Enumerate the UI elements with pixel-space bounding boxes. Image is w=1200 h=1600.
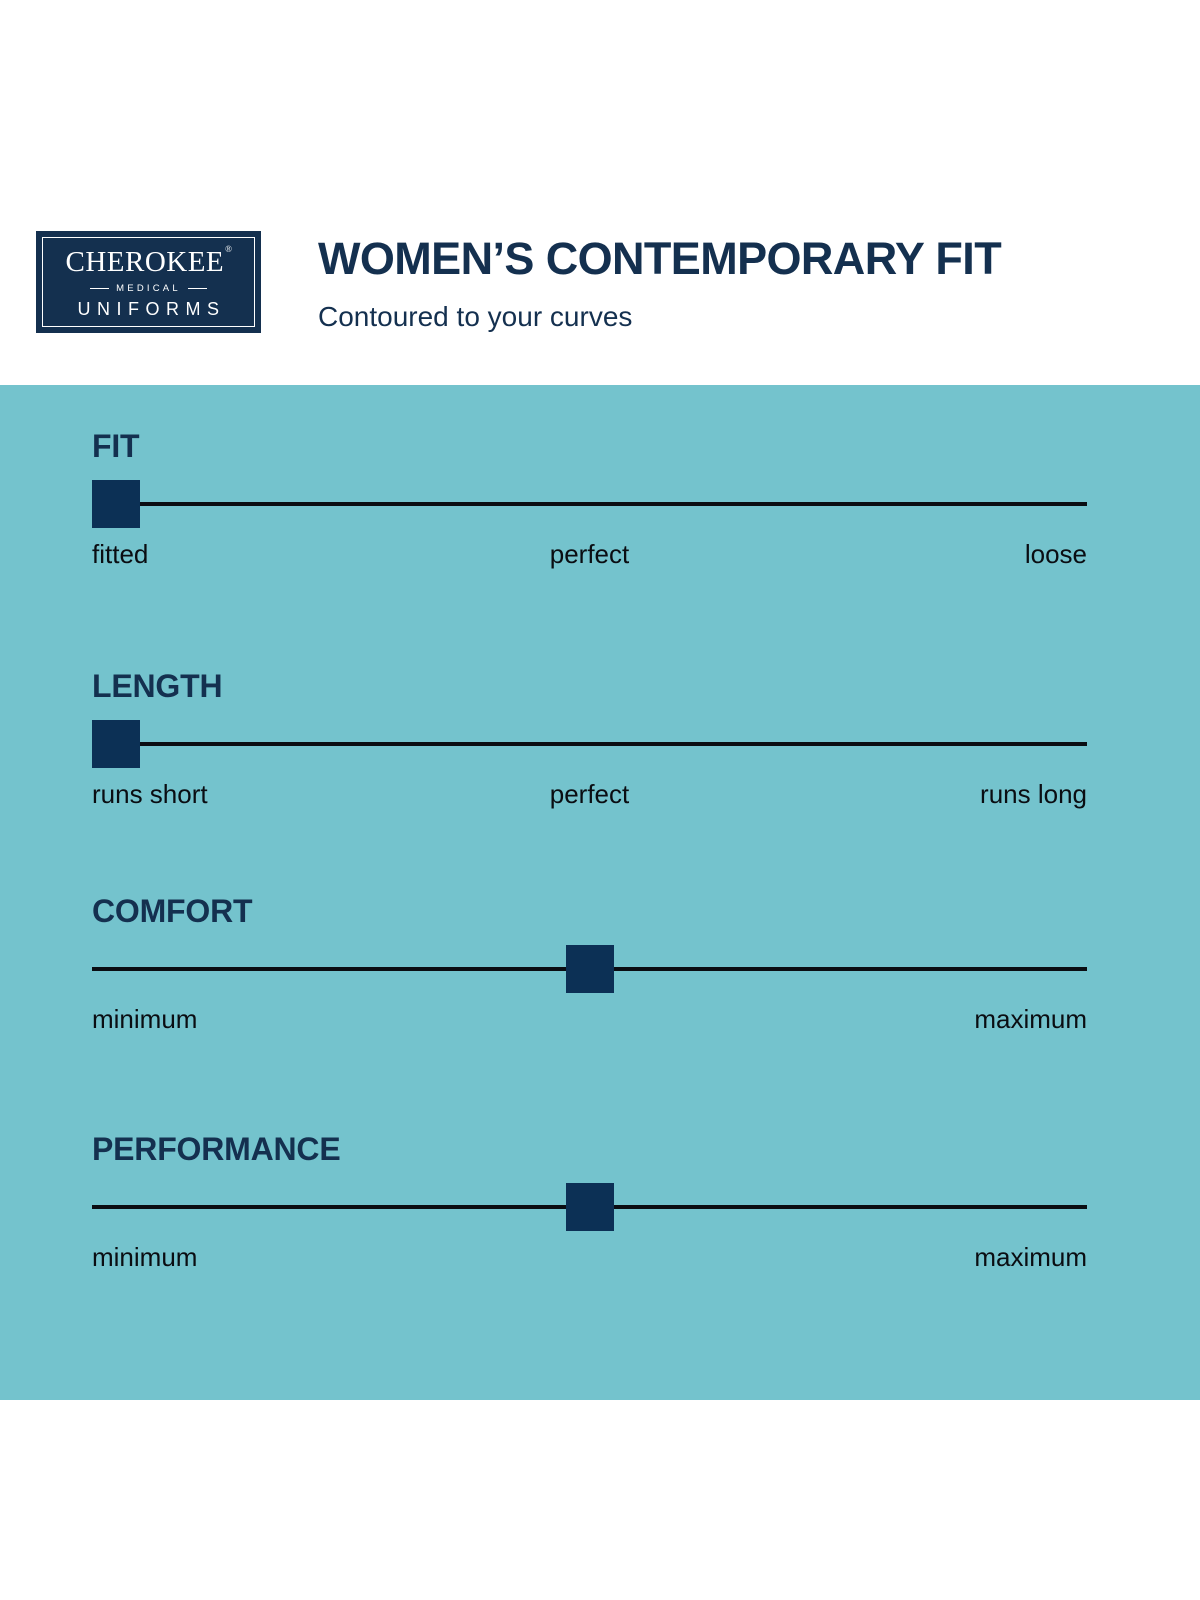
slider-track[interactable]	[140, 502, 1087, 506]
registered-trademark-icon: ®	[225, 244, 232, 254]
scale-label-left: fitted	[92, 540, 148, 570]
slider-performance[interactable]	[92, 1183, 1087, 1231]
scale-label-right: loose	[1025, 540, 1087, 570]
page-title: WOMEN’S CONTEMPORARY FIT	[318, 236, 1001, 281]
slider-comfort[interactable]	[92, 945, 1087, 993]
logo-inner-border: CHEROKEE® MEDICAL UNIFORMS	[42, 237, 255, 327]
fit-row-length: LENGTHruns shortperfectruns long	[92, 670, 1087, 814]
logo-rule-right-icon	[188, 288, 207, 290]
slider-scale-labels: minimummaximum	[92, 1243, 1087, 1277]
scale-label-mid: perfect	[550, 780, 630, 810]
slider-thumb[interactable]	[566, 945, 614, 993]
row-title: FIT	[92, 430, 1087, 462]
slider-scale-labels: runs shortperfectruns long	[92, 780, 1087, 814]
scale-label-left: runs short	[92, 780, 208, 810]
fit-guide-panel: FITfittedperfectlooseLENGTHruns shortper…	[0, 385, 1200, 1400]
logo-medical-row: MEDICAL	[90, 284, 207, 294]
logo-brand-text: CHEROKEE	[65, 246, 224, 278]
scale-label-right: maximum	[974, 1005, 1087, 1035]
row-title: PERFORMANCE	[92, 1133, 1087, 1165]
scale-label-left: minimum	[92, 1005, 197, 1035]
header-text-block: WOMEN’S CONTEMPORARY FIT Contoured to yo…	[318, 236, 1001, 331]
scale-label-mid: perfect	[550, 540, 630, 570]
fit-row-fit: FITfittedperfectloose	[92, 430, 1087, 574]
scale-label-left: minimum	[92, 1243, 197, 1273]
slider-length[interactable]	[92, 720, 1087, 768]
slider-scale-labels: minimummaximum	[92, 1005, 1087, 1039]
logo-medical-text: MEDICAL	[116, 284, 181, 294]
page-subtitle: Contoured to your curves	[318, 303, 1001, 331]
row-title: LENGTH	[92, 670, 1087, 702]
fit-row-performance: PERFORMANCEminimummaximum	[92, 1133, 1087, 1277]
logo-uniforms-text: UNIFORMS	[72, 300, 226, 318]
cherokee-medical-uniforms-logo: CHEROKEE® MEDICAL UNIFORMS	[36, 231, 261, 333]
logo-brand-name: CHEROKEE®	[65, 248, 231, 277]
slider-thumb[interactable]	[92, 480, 140, 528]
page-header: CHEROKEE® MEDICAL UNIFORMS WOMEN’S CONTE…	[0, 0, 1200, 385]
slider-track[interactable]	[140, 742, 1087, 746]
scale-label-right: runs long	[980, 780, 1087, 810]
logo-rule-left-icon	[90, 288, 109, 290]
scale-label-right: maximum	[974, 1243, 1087, 1273]
slider-scale-labels: fittedperfectloose	[92, 540, 1087, 574]
row-title: COMFORT	[92, 895, 1087, 927]
slider-fit[interactable]	[92, 480, 1087, 528]
fit-row-comfort: COMFORTminimummaximum	[92, 895, 1087, 1039]
slider-thumb[interactable]	[92, 720, 140, 768]
slider-thumb[interactable]	[566, 1183, 614, 1231]
